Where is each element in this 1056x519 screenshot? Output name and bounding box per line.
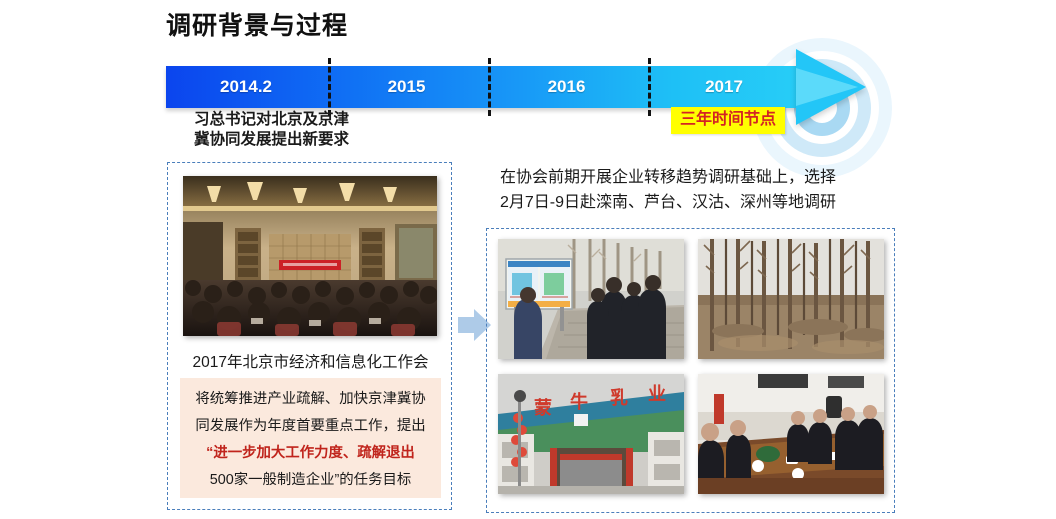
- svg-text:乳: 乳: [610, 388, 628, 409]
- svg-text:牛: 牛: [570, 391, 588, 413]
- right-heading-line-2: 2月7日-9日赴滦南、芦台、汉沽、深州等地调研: [500, 190, 900, 215]
- slide-canvas: 调研背景与过程 2014.2 2015 2016 2017 习总书记对北京及京津…: [0, 0, 1056, 519]
- survey-photo-4-art: [698, 374, 884, 494]
- highlight-line-1: 将统筹推进产业疏解、加快京津冀协: [190, 386, 431, 413]
- survey-photo-1: [498, 239, 684, 359]
- timeline-note-line-2: 冀协同发展提出新要求: [194, 130, 349, 150]
- highlight-line-4-quote: 500家一般制造企业”: [210, 472, 340, 488]
- conference-photo: [183, 176, 437, 336]
- timeline-divider-1: [328, 58, 331, 116]
- timeline-segment-2017: 2017: [649, 74, 799, 100]
- survey-photo-3: 蒙 牛 乳 业: [498, 374, 684, 494]
- timeline-divider-3: [648, 58, 651, 116]
- timeline-segment-2015: 2015: [329, 74, 484, 100]
- survey-photo-3-art: 蒙 牛 乳 业: [498, 374, 684, 494]
- timeline-note-line-1: 习总书记对北京及京津: [194, 110, 349, 130]
- survey-photo-4: [698, 374, 884, 494]
- timeline-divider-2: [488, 58, 491, 116]
- survey-photo-2-art: [698, 239, 884, 359]
- page-title: 调研背景与过程: [166, 6, 348, 42]
- svg-text:蒙: 蒙: [534, 398, 552, 419]
- highlight-text-box: 将统筹推进产业疏解、加快京津冀协 同发展作为年度首要重点工作，提出 “进一步加大…: [180, 378, 441, 498]
- arrow-shaft: [458, 317, 475, 333]
- timeline: 2014.2 2015 2016 2017 习总书记对北京及京津 冀协同发展提出…: [166, 52, 896, 157]
- right-panel-photo-grid: 蒙 牛 乳 业: [486, 228, 895, 513]
- milestone-badge: 三年时间节点: [671, 107, 785, 134]
- survey-photo-2: [698, 239, 884, 359]
- svg-text:业: 业: [648, 384, 666, 405]
- right-heading-line-1: 在协会前期开展企业转移趋势调研基础上，选择: [500, 165, 900, 190]
- left-photo-caption: 2017年北京市经济和信息化工作会: [168, 350, 453, 372]
- conference-photo-art: [183, 176, 437, 336]
- timeline-segment-2014: 2014.2: [166, 74, 326, 100]
- highlight-line-4-tail: 的任务目标: [339, 472, 411, 488]
- timeline-note: 习总书记对北京及京津 冀协同发展提出新要求: [194, 110, 349, 150]
- highlight-line-3: “进一步加大工作力度、疏解退出: [190, 440, 431, 467]
- highlight-line-2: 同发展作为年度首要重点工作，提出: [190, 413, 431, 440]
- survey-photo-1-art: [498, 239, 684, 359]
- timeline-segment-2016: 2016: [489, 74, 644, 100]
- timeline-arrow-gloss: [796, 68, 858, 106]
- left-panel: 2017年北京市经济和信息化工作会 将统筹推进产业疏解、加快京津冀协 同发展作为…: [167, 162, 452, 510]
- right-panel-heading: 在协会前期开展企业转移趋势调研基础上，选择 2月7日-9日赴滦南、芦台、汉沽、深…: [500, 165, 900, 215]
